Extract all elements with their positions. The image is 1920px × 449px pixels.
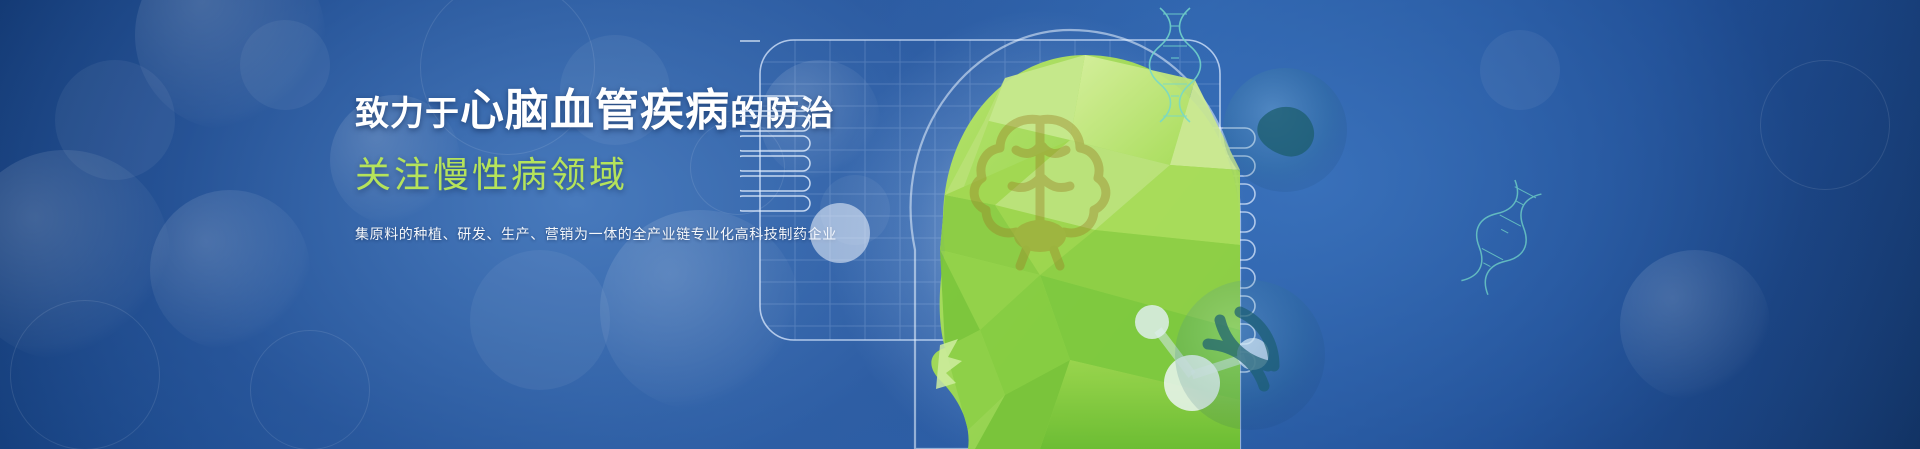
cell-bottom-right [1175, 280, 1325, 430]
bokeh-circle [250, 330, 370, 449]
panel-bar [740, 116, 810, 131]
bokeh-circle [470, 250, 610, 390]
panel-bar [740, 176, 810, 191]
graphic-svg [740, 0, 1920, 449]
bokeh-circle [150, 190, 310, 350]
bokeh-circle [55, 60, 175, 180]
cell-top-right [1223, 68, 1347, 192]
molecule-node [1135, 305, 1169, 339]
dna-helix-right [1452, 175, 1551, 300]
hero-graphic [740, 0, 1920, 449]
headline-prefix: 致力于 [355, 95, 460, 133]
hero-banner: 致力于心脑血管疾病的防治 关注慢性病领域 集原料的种植、研发、生产、营销为一体的… [0, 0, 1920, 449]
headline-emphasis: 心脑血管疾病 [460, 86, 730, 135]
bokeh-circle [240, 20, 330, 110]
bokeh-circle [10, 300, 160, 449]
panel-bar [740, 136, 810, 151]
bokeh-circle [135, 0, 325, 130]
panel-bar [740, 96, 810, 111]
floating-orb [810, 203, 870, 263]
panel-bar [740, 196, 810, 211]
panel-bar [740, 156, 810, 171]
bokeh-circle [0, 150, 170, 360]
